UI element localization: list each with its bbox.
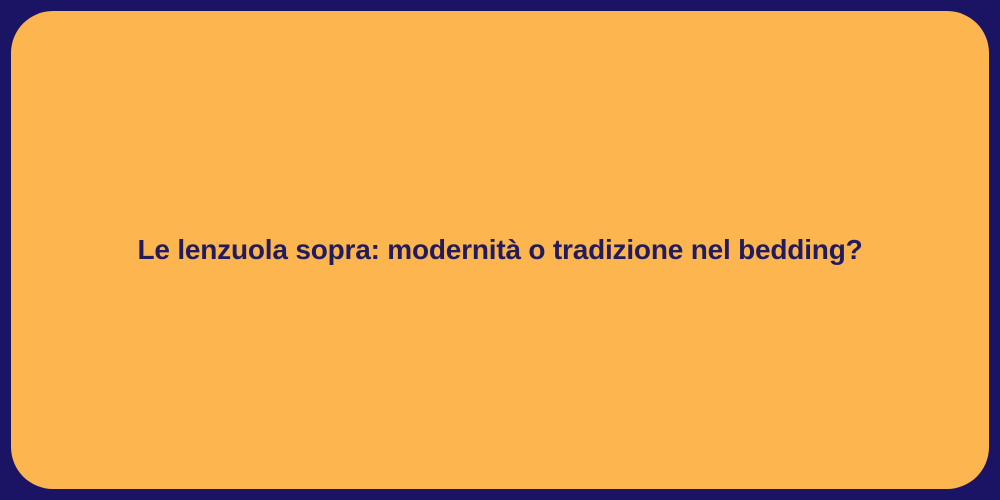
banner-frame: Le lenzuola sopra: modernità o tradizion… bbox=[0, 0, 1000, 500]
banner-panel: Le lenzuola sopra: modernità o tradizion… bbox=[11, 11, 989, 489]
page-title: Le lenzuola sopra: modernità o tradizion… bbox=[77, 232, 922, 268]
